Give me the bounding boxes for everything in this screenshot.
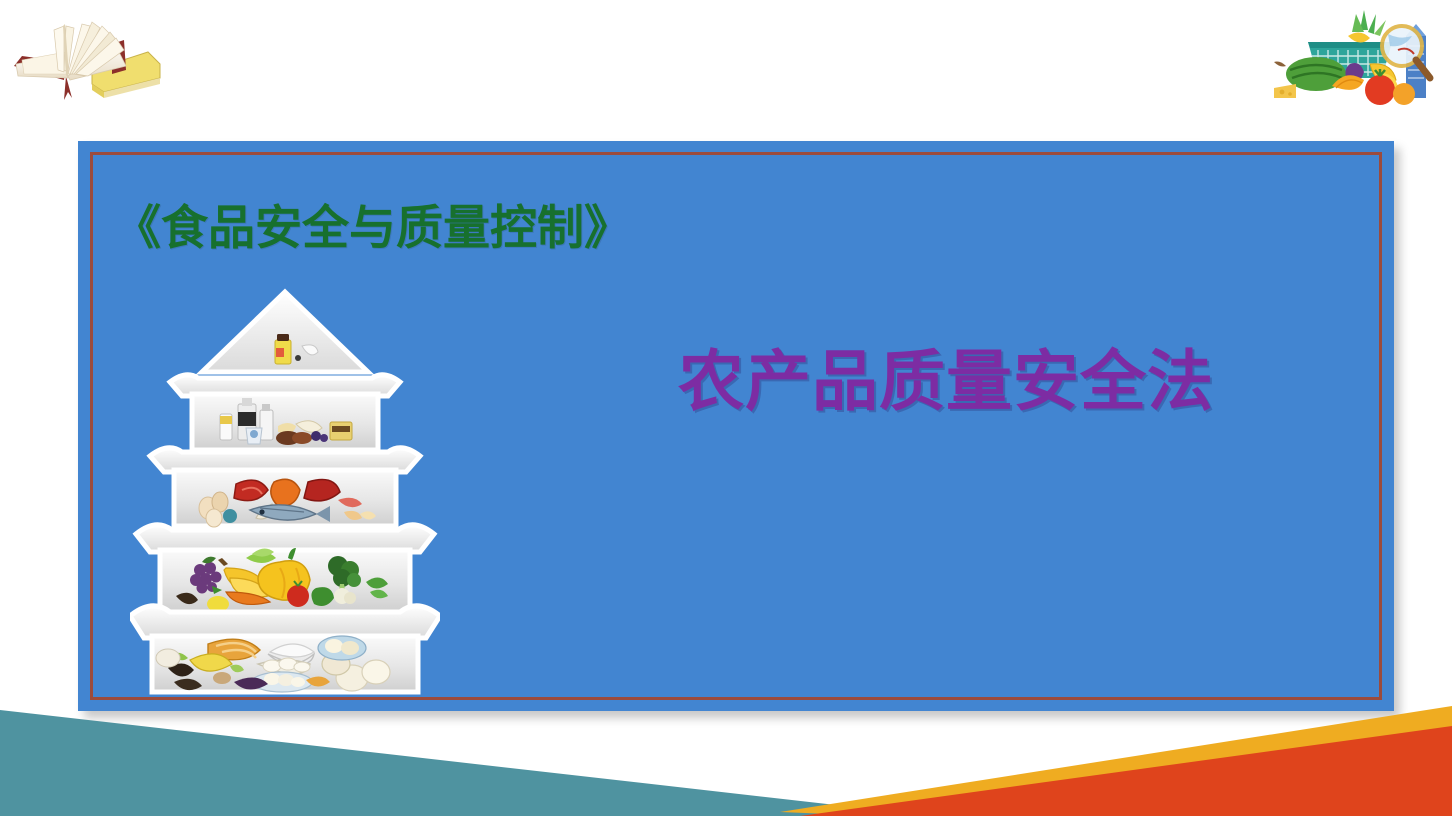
teal-shape [0, 710, 880, 816]
bottom-angular-decoration [0, 696, 1452, 816]
grocery-basket-illustration [1252, 2, 1442, 122]
slide-canvas: 《食品安全与质量控制》 农产品质量安全法 [0, 0, 1452, 816]
chinese-food-pagoda [130, 286, 440, 696]
content-panel: 《食品安全与质量控制》 农产品质量安全法 [78, 141, 1394, 711]
open-book-illustration [8, 4, 218, 114]
page-title: 《食品安全与质量控制》 [114, 189, 631, 258]
main-heading: 农产品质量安全法 [678, 328, 1214, 424]
